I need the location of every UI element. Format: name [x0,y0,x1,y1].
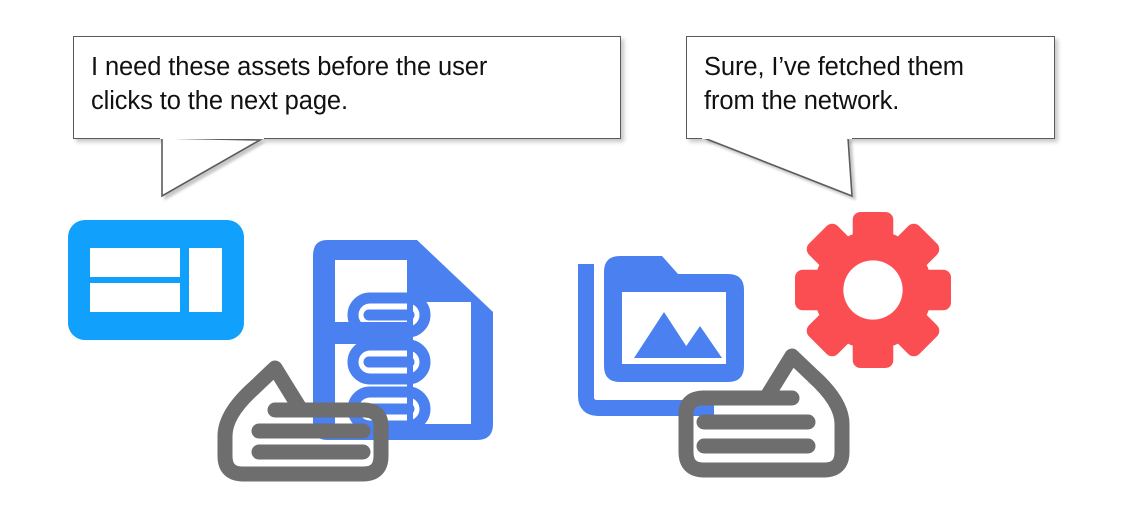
speech-bubble-responder-text: Sure, I’ve fetched them from the network… [704,51,1038,119]
illustration-canvas: I need these assets before the user clic… [0,0,1130,528]
hand-icon [213,352,395,488]
speech-bubble-requester-tail [140,130,340,220]
page-layout-icon [68,220,244,340]
speech-bubble-requester-text: I need these assets before the user clic… [91,51,604,119]
speech-bubble-responder-tail [684,130,914,220]
hand-icon [672,340,854,490]
speech-bubble-requester: I need these assets before the user clic… [73,36,621,139]
speech-bubble-responder: Sure, I’ve fetched them from the network… [686,36,1055,139]
